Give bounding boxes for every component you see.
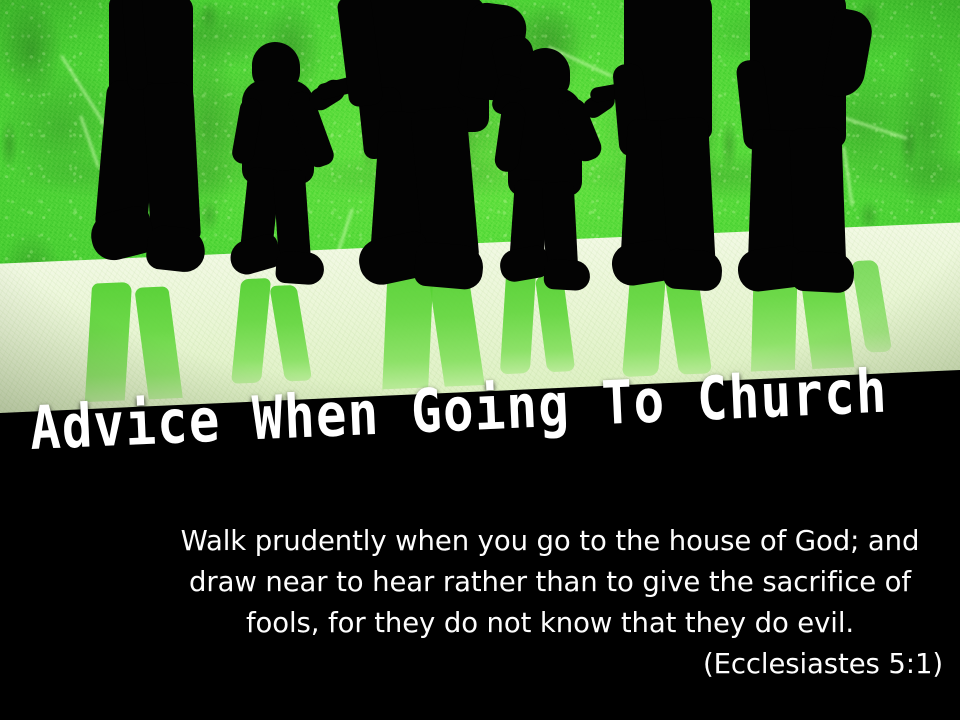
slide-canvas: Advice When Going To Church Walk prudent… (0, 0, 960, 720)
vignette-overlay (0, 0, 960, 420)
verse-line: fools, for they do not know that they do… (150, 603, 950, 644)
verse-line: Walk prudently when you go to the house … (150, 521, 950, 562)
scripture-citation: (Ecclesiastes 5:1) (150, 644, 943, 685)
background-photo (0, 0, 960, 420)
verse-line: draw near to hear rather than to give th… (150, 562, 950, 603)
verse-text: Walk prudently when you go to the house … (150, 521, 950, 644)
